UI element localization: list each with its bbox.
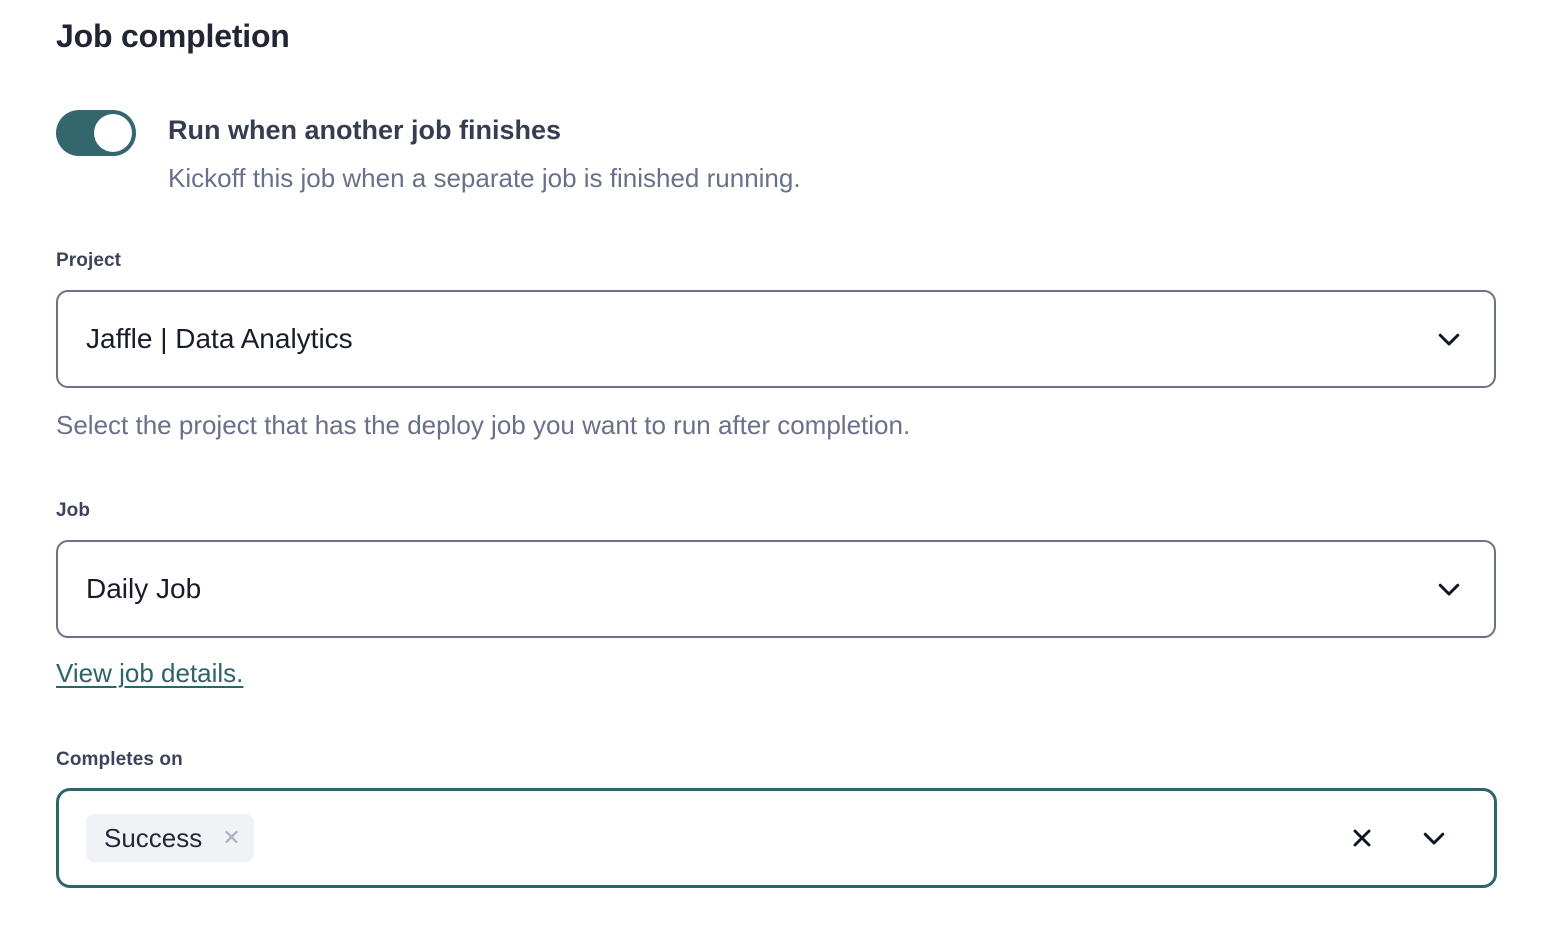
toggle-description: Kickoff this job when a separate job is … (168, 159, 801, 197)
chevron-down-icon (1434, 324, 1464, 354)
completes-on-multiselect[interactable]: Success ✕ (56, 788, 1497, 888)
job-completion-panel: Job completion Run when another job fini… (0, 0, 1564, 936)
chevron-down-icon (1434, 574, 1464, 604)
run-when-another-job-finishes-row: Run when another job finishes Kickoff th… (56, 106, 1496, 206)
clear-selection-icon[interactable] (1347, 823, 1377, 853)
run-when-another-job-finishes-toggle[interactable] (56, 110, 136, 156)
project-select[interactable]: Jaffle | Data Analytics (56, 290, 1496, 388)
chip-success: Success ✕ (86, 814, 254, 862)
project-helper-text: Select the project that has the deploy j… (56, 407, 910, 443)
job-label: Job (56, 498, 90, 524)
project-select-value: Jaffle | Data Analytics (86, 292, 353, 386)
job-select-value: Daily Job (86, 542, 201, 636)
chevron-down-icon[interactable] (1419, 823, 1449, 853)
toggle-label: Run when another job finishes (168, 111, 561, 149)
completes-on-label: Completes on (56, 747, 183, 773)
page-title: Job completion (56, 14, 290, 58)
project-label: Project (56, 248, 121, 274)
job-select[interactable]: Daily Job (56, 540, 1496, 638)
toggle-knob (94, 114, 132, 152)
view-job-details-link[interactable]: View job details. (56, 656, 243, 690)
close-icon[interactable]: ✕ (222, 827, 240, 849)
chip-label: Success (104, 823, 202, 853)
